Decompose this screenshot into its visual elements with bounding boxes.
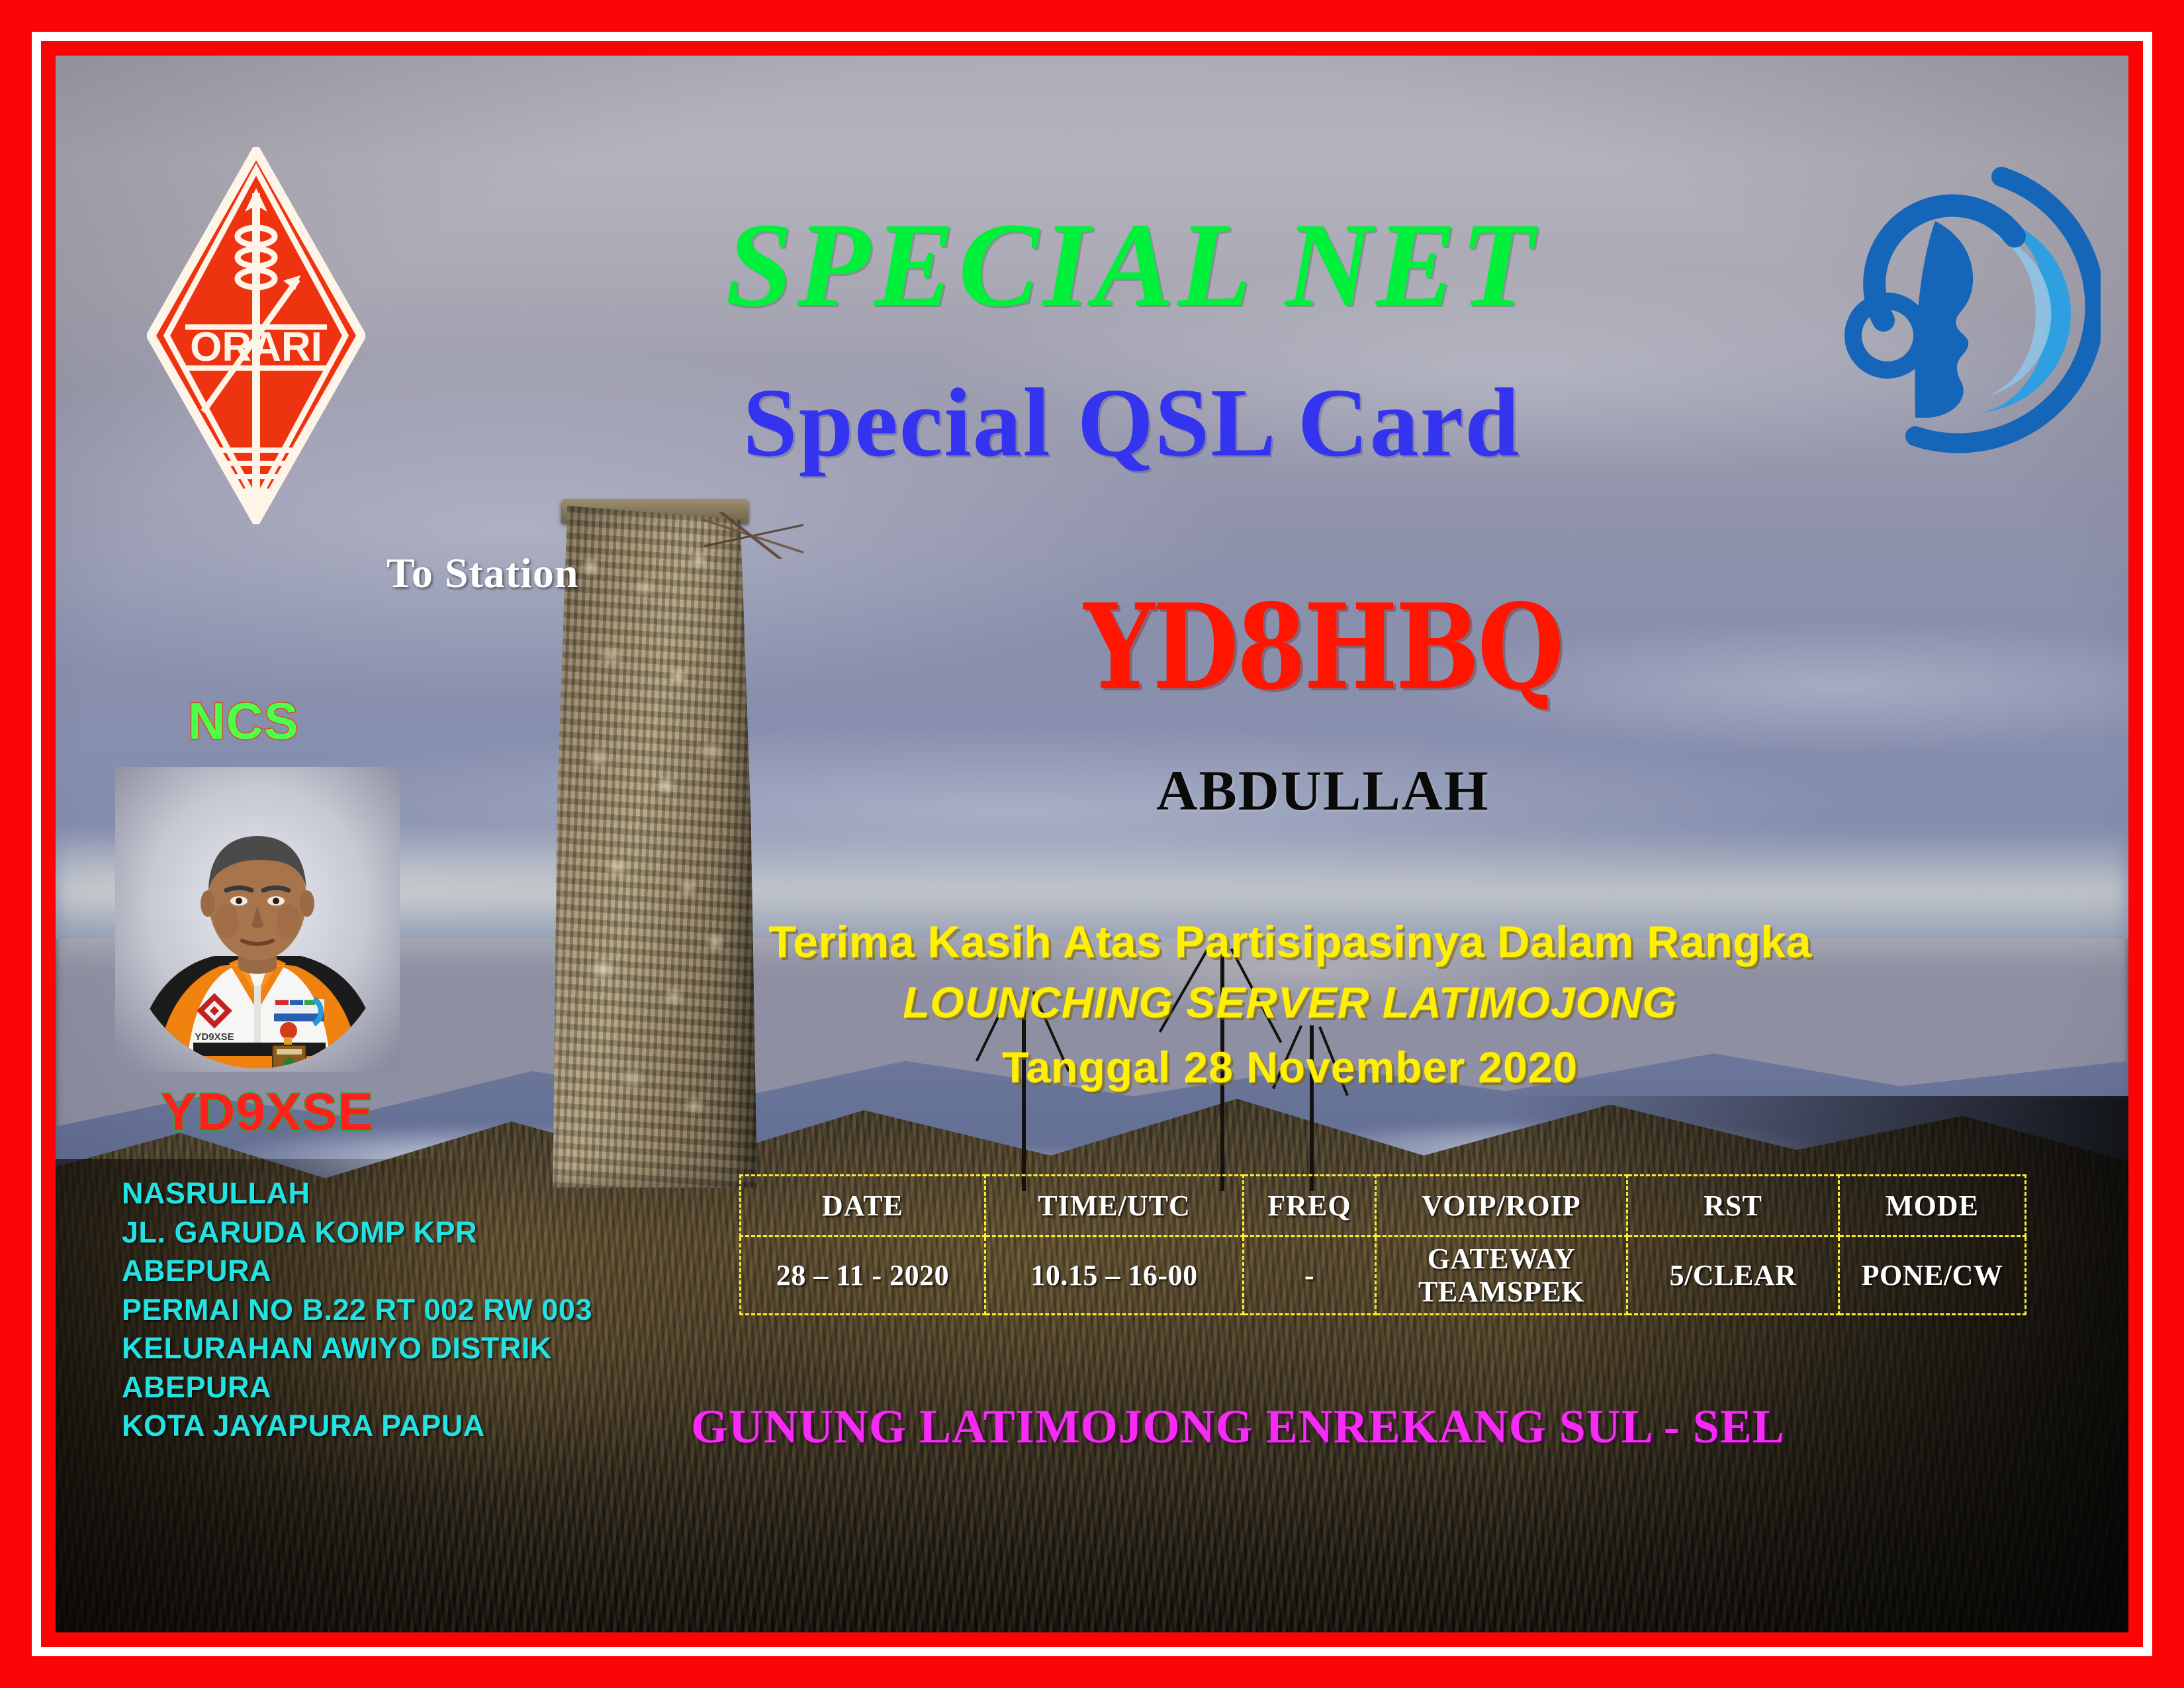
location-line: GUNUNG LATIMOJONG ENREKANG SUL - SEL	[691, 1399, 1948, 1454]
footer-web-address: Address : amatir.latimojong.com	[1340, 1631, 1998, 1632]
uniform-callsign-text: YD9XSE	[195, 1031, 234, 1043]
destination-callsign: YD8HBQ	[995, 579, 1651, 716]
column-header-voip-roip: VOIP/ROIP	[1376, 1176, 1627, 1237]
column-header-time: TIME/UTC	[985, 1176, 1244, 1237]
ncs-operator-photo: YD9XSE	[115, 767, 400, 1072]
column-header-freq: FREQ	[1244, 1176, 1376, 1237]
column-header-date: DATE	[741, 1176, 985, 1237]
address-line: ABEPURA	[122, 1368, 592, 1407]
table-row: 28 – 11 - 2020 10.15 – 16-00 - GATEWAY T…	[741, 1237, 2026, 1315]
thanks-line-1: Terima Kasih Atas Partisipasinya Dalam R…	[671, 916, 1909, 968]
cell-voip-line-2: TEAMSPEK	[1379, 1276, 1623, 1308]
table-header-row: DATE TIME/UTC FREQ VOIP/ROIP RST MODE	[741, 1176, 2026, 1237]
address-line: ABEPURA	[122, 1252, 592, 1291]
ncs-label: NCS	[188, 691, 299, 751]
page-title: SPECIAL NET	[56, 196, 2128, 334]
page-subtitle: Special QSL Card	[56, 367, 2128, 479]
thanks-line-2: LOUNCHING SERVER LATIMOJONG	[671, 977, 1909, 1027]
qsl-card-frame: ORARI	[0, 0, 2184, 1688]
cell-rst: 5/CLEAR	[1627, 1237, 1839, 1315]
card-background-photo: ORARI	[56, 56, 2128, 1632]
cell-mode: PONE/CW	[1839, 1237, 2026, 1315]
return-address-block: NASRULLAH JL. GARUDA KOMP KPR ABEPURA PE…	[122, 1174, 592, 1446]
frame-inner-red: ORARI	[41, 41, 2143, 1647]
address-line: JL. GARUDA KOMP KPR	[122, 1213, 592, 1252]
cell-date: 28 – 11 - 2020	[741, 1237, 985, 1315]
to-station-label: To Station	[387, 549, 578, 598]
operator-name: ABDULLAH	[995, 757, 1651, 823]
address-line: PERMAI NO B.22 RT 002 RW 003	[122, 1291, 592, 1330]
frame-white-gap: ORARI	[32, 32, 2152, 1656]
cell-voip-line-1: GATEWAY	[1379, 1243, 1623, 1275]
cell-freq: -	[1244, 1237, 1376, 1315]
column-header-mode: MODE	[1839, 1176, 2026, 1237]
address-line: KELURAHAN AWIYO DISTRIK	[122, 1329, 592, 1368]
cell-voip-roip: GATEWAY TEAMSPEK	[1376, 1237, 1627, 1315]
address-line: KOTA JAYAPURA PAPUA	[122, 1407, 592, 1446]
qso-log-table: DATE TIME/UTC FREQ VOIP/ROIP RST MODE 28…	[739, 1174, 2026, 1315]
footer-motto: "AMATIR RADIO ADALAH PROGRESIVE"	[135, 1631, 1058, 1632]
thanks-line-3: Tanggal 28 November 2020	[671, 1042, 1909, 1092]
cell-time: 10.15 – 16-00	[985, 1237, 1244, 1315]
ncs-callsign: YD9XSE	[135, 1082, 400, 1143]
column-header-rst: RST	[1627, 1176, 1839, 1237]
address-line: NASRULLAH	[122, 1174, 592, 1213]
